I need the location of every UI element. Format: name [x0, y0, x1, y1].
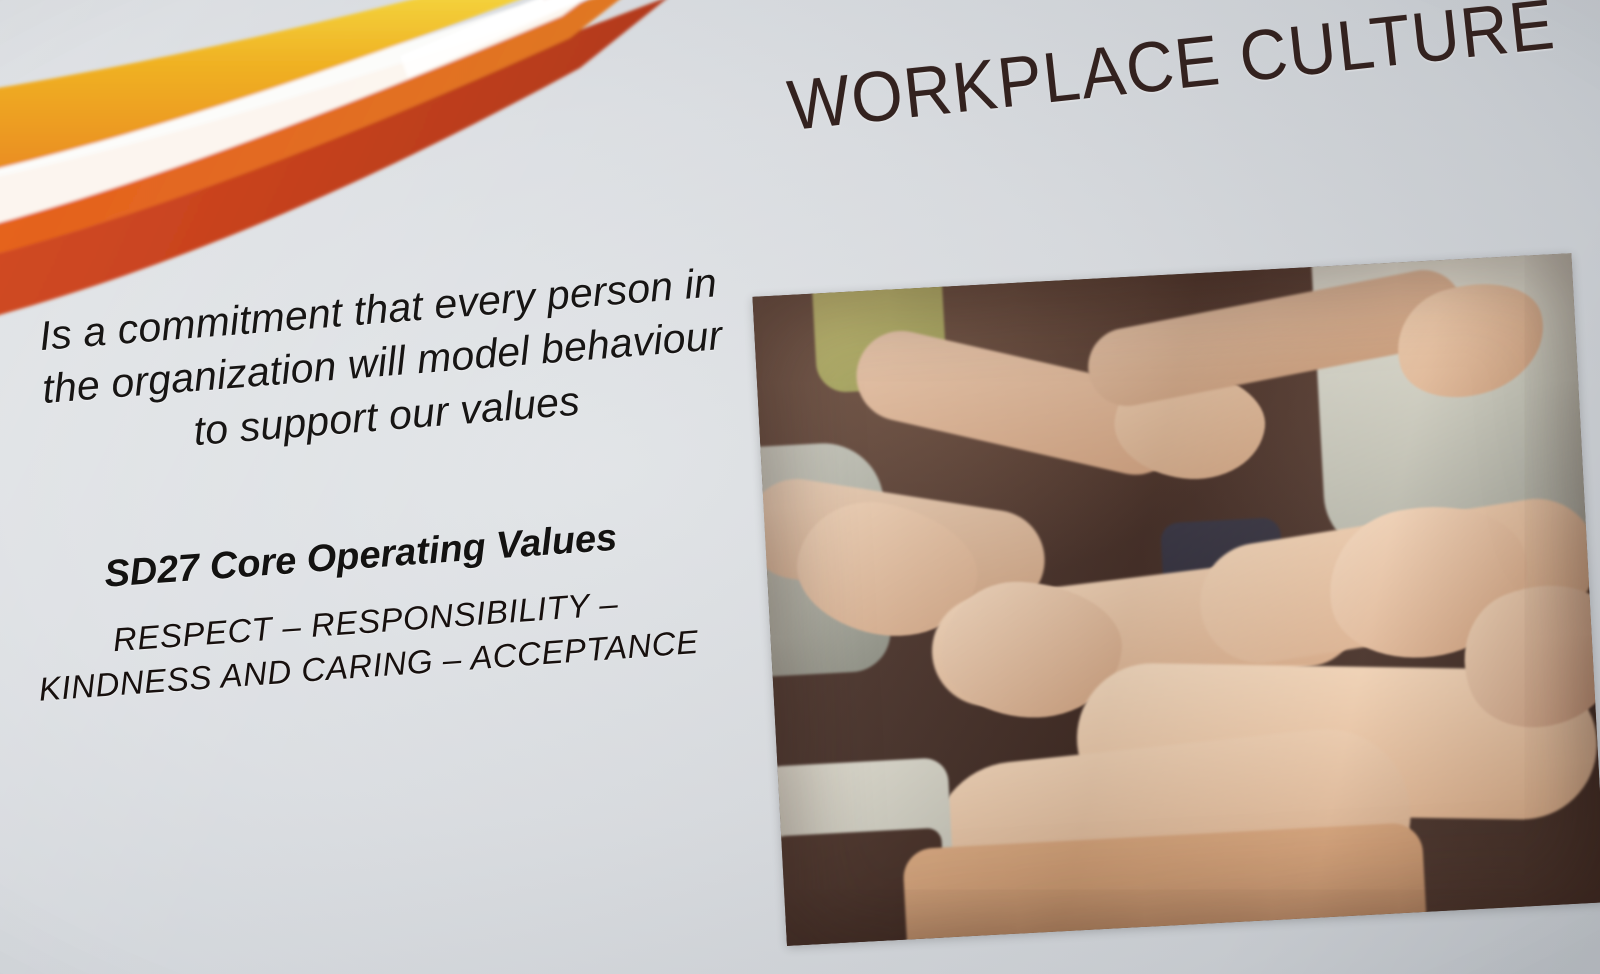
core-values-block: SD27 Core Operating Values RESPECT – RES…: [20, 511, 709, 713]
photo-inner: [752, 253, 1600, 946]
core-values-list: RESPECT – RESPONSIBILITY – KINDNESS AND …: [25, 575, 710, 712]
page-title: WORKPLACE CULTURE: [784, 0, 1560, 147]
hands-stacked-together-photo: [752, 253, 1600, 946]
slide-content: WORKPLACE CULTURE Is a commitment that e…: [0, 0, 1600, 974]
body-paragraph: Is a commitment that every person in the…: [17, 255, 747, 472]
photo-vignette: [752, 253, 1600, 946]
projected-slide-photo: WORKPLACE CULTURE Is a commitment that e…: [0, 0, 1600, 974]
